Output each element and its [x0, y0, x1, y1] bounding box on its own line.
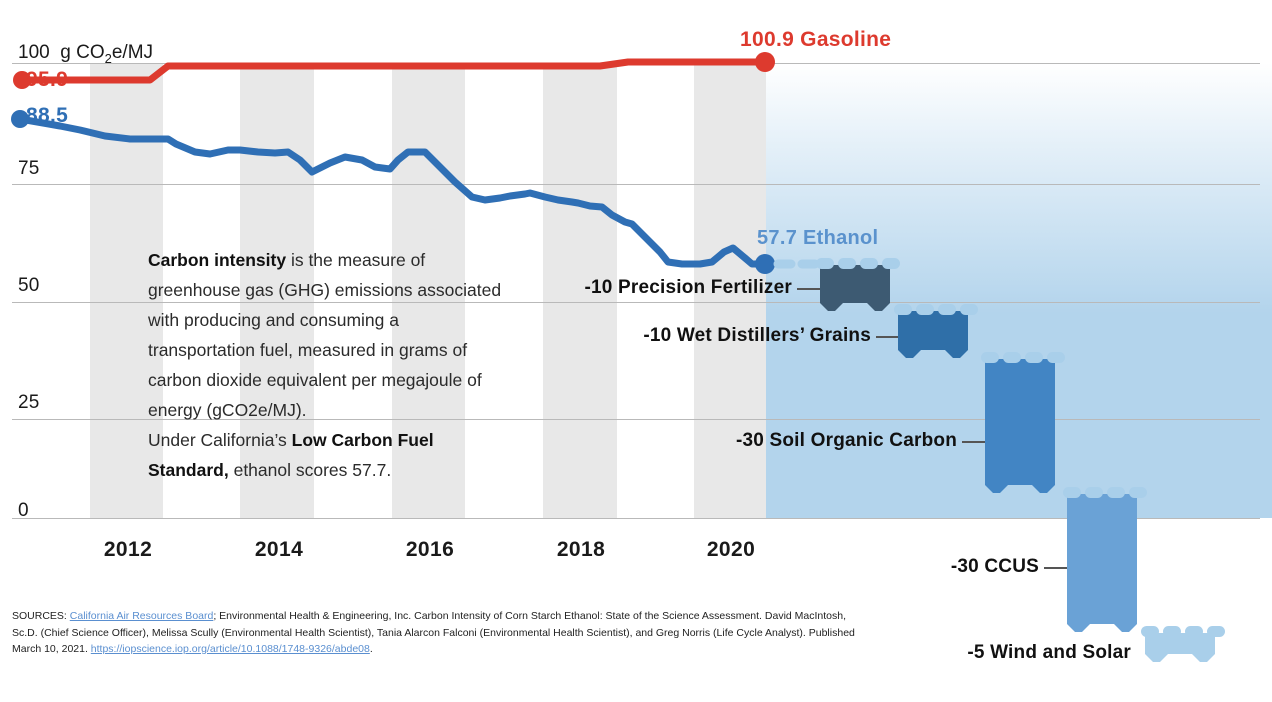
brick-stud [816, 258, 834, 269]
ethanol-end-label: 57.7 Ethanol [757, 227, 878, 250]
brick-stud [860, 258, 878, 269]
ethanol-line [20, 119, 765, 264]
definition-note-body: is the measure of greenhouse gas (GHG) e… [148, 250, 501, 420]
brick-shape [985, 359, 1055, 493]
brick-stud [894, 304, 912, 315]
brick-stud [916, 304, 934, 315]
brick-leader-line [1044, 567, 1067, 569]
lcfs-note: Under California’s Low Carbon Fuel Stand… [148, 425, 478, 485]
brick-label-wet-distillers-grains: -10 Wet Distillers’ Grains [566, 325, 871, 347]
brick-stud [838, 258, 856, 269]
brick-ccus [1067, 494, 1137, 632]
lcfs-note-rest: ethanol scores 57.7. [229, 460, 391, 480]
brick-stud [1047, 352, 1065, 363]
brick-label-precision-fertilizer: -10 Precision Fertilizer [497, 277, 792, 299]
brick-stud [1063, 487, 1081, 498]
brick-leader-line [962, 441, 985, 443]
infographic-root: 100 g CO2e/MJ 75 50 25 0 2012 2014 2016 … [0, 0, 1272, 702]
brick-stud [1141, 626, 1159, 637]
brick-stud [1129, 487, 1147, 498]
brick-leader-line [797, 288, 820, 290]
brick-stud [1185, 626, 1203, 637]
brick-wind-and-solar [1145, 633, 1215, 662]
ethanol-end-dot [755, 254, 775, 274]
brick-soil-organic-carbon [985, 359, 1055, 493]
sources-note: SOURCES: California Air Resources Board;… [12, 608, 872, 658]
gasoline-line [22, 62, 765, 80]
brick-wet-distillers-grains [898, 311, 968, 358]
sources-suffix: . [370, 643, 373, 655]
brick-label-soil-organic-carbon: -30 Soil Organic Carbon [657, 430, 957, 452]
brick-stud [1107, 487, 1125, 498]
definition-note: Carbon intensity is the measure of green… [148, 245, 508, 425]
gasoline-end-dot [755, 52, 775, 72]
brick-stud [1163, 626, 1181, 637]
brick-precision-fertilizer [820, 265, 890, 311]
brick-stud [981, 352, 999, 363]
brick-shape [898, 311, 968, 358]
sources-link-doi[interactable]: https://iopscience.iop.org/article/10.10… [91, 643, 370, 655]
brick-leader-line [876, 336, 898, 338]
brick-label-wind-and-solar: -5 Wind and Solar [896, 642, 1131, 664]
brick-shape [1067, 494, 1137, 632]
chart-plot-area: 100 g CO2e/MJ 75 50 25 0 2012 2014 2016 … [0, 0, 1272, 702]
brick-shape [1145, 633, 1215, 662]
brick-stud [960, 304, 978, 315]
brick-stud [1085, 487, 1103, 498]
brick-stud [1003, 352, 1021, 363]
brick-stud [882, 258, 900, 269]
lcfs-note-pre: Under California’s [148, 430, 292, 450]
brick-stud [1025, 352, 1043, 363]
sources-link-carb[interactable]: California Air Resources Board [70, 610, 214, 622]
brick-shape [820, 265, 890, 311]
ethanol-start-label: 88.5 [26, 104, 68, 128]
gasoline-end-label: 100.9 Gasoline [740, 28, 891, 52]
sources-prefix: SOURCES: [12, 610, 70, 622]
brick-stud [938, 304, 956, 315]
definition-note-term: Carbon intensity [148, 250, 286, 270]
brick-stud [1207, 626, 1225, 637]
brick-label-ccus: -30 CCUS [889, 556, 1039, 578]
gasoline-start-label: 95.9 [26, 68, 68, 92]
